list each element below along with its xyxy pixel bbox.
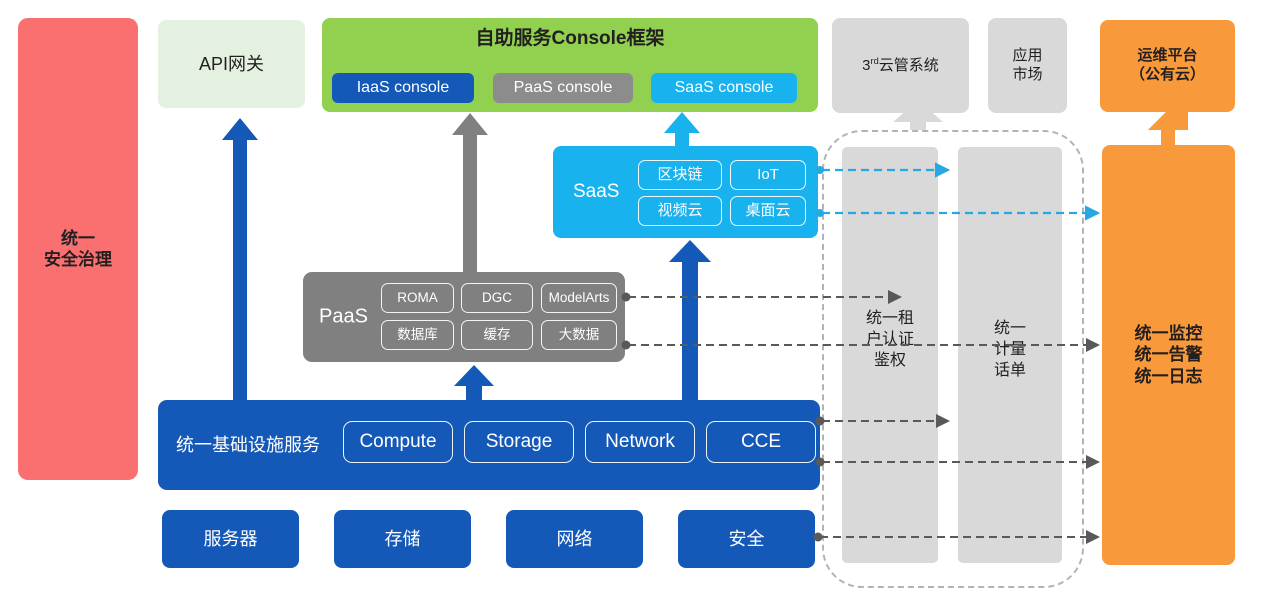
api-gateway-box: API网关 xyxy=(158,20,305,108)
hardware-label: 网络 xyxy=(557,528,593,551)
iaas-console-chip[interactable]: IaaS console xyxy=(332,73,474,103)
hardware-label: 安全 xyxy=(729,528,765,551)
ops-tall-line-2: 统一告警 xyxy=(1135,344,1203,365)
unified-infrastructure-service-band: 统一基础设施服务 Compute Storage Network CCE xyxy=(158,400,820,490)
arrow-iaas-to-saas xyxy=(669,240,711,400)
paas-console-label: PaaS console xyxy=(514,78,613,98)
ops-platform-line-2: （公有云） xyxy=(1130,66,1205,85)
console-frame-title: 自助服务Console框架 xyxy=(322,27,818,51)
paas-service-modelarts[interactable]: ModelArts xyxy=(541,283,617,313)
ops-tall-line-1: 统一监控 xyxy=(1135,323,1203,344)
third-party-cloud-mgmt-box: 3rd云管系统 xyxy=(832,18,969,113)
third-party-label: 3rd云管系统 xyxy=(862,56,939,76)
iaas-service-label: Compute xyxy=(359,430,436,454)
saas-service-label: 区块链 xyxy=(657,166,702,185)
iaas-service-network[interactable]: Network xyxy=(585,421,695,463)
hardware-box-storage: 存储 xyxy=(334,510,471,568)
saas-service-blockchain[interactable]: 区块链 xyxy=(638,160,722,190)
self-service-console-frame: 自助服务Console框架 IaaS console PaaS console … xyxy=(322,18,818,112)
iaas-console-label: IaaS console xyxy=(357,78,450,98)
paas-service-label: 数据库 xyxy=(397,327,438,344)
app-market-box: 应用 市场 xyxy=(988,18,1067,113)
arrow-ops-tall-to-ops-platform xyxy=(1148,110,1188,145)
saas-service-label: 桌面云 xyxy=(745,202,790,221)
metering-line-2: 计量 xyxy=(994,340,1026,361)
hardware-label: 服务器 xyxy=(204,528,258,551)
hardware-box-server: 服务器 xyxy=(162,510,299,568)
security-line-1: 统一 xyxy=(61,228,95,249)
saas-service-label: 视频云 xyxy=(657,202,702,221)
shared-service-metering-billing: 统一 计量 话单 xyxy=(958,147,1062,563)
paas-service-label: ROMA xyxy=(397,290,438,307)
saas-label: SaaS xyxy=(573,180,619,204)
paas-service-label: ModelArts xyxy=(549,290,610,307)
security-line-2: 安全治理 xyxy=(44,249,112,270)
unified-monitoring-alarm-log-panel: 统一监控 统一告警 统一日志 xyxy=(1102,145,1235,565)
tenant-auth-line-1: 统一租 xyxy=(866,309,914,330)
tenant-auth-line-2: 户认证 xyxy=(866,330,914,351)
paas-service-bigdata[interactable]: 大数据 xyxy=(541,320,617,350)
app-market-line-2: 市场 xyxy=(1012,66,1042,85)
iaas-service-cce[interactable]: CCE xyxy=(706,421,816,463)
iaas-band-label: 统一基础设施服务 xyxy=(176,434,320,457)
metering-line-3: 话单 xyxy=(994,361,1026,382)
ops-tall-line-3: 统一日志 xyxy=(1135,366,1203,387)
arrow-saas-to-console xyxy=(664,112,700,146)
iaas-service-compute[interactable]: Compute xyxy=(343,421,453,463)
iaas-service-label: CCE xyxy=(741,430,781,454)
api-gateway-label: API网关 xyxy=(199,53,264,76)
ops-platform-line-1: 运维平台 xyxy=(1137,47,1197,66)
metering-line-1: 统一 xyxy=(994,319,1026,340)
saas-service-label: IoT xyxy=(757,166,779,185)
paas-service-label: DGC xyxy=(482,290,512,307)
unified-security-governance-panel: 统一 安全治理 xyxy=(18,18,138,480)
tenant-auth-line-3: 鉴权 xyxy=(866,351,914,372)
shared-service-tenant-auth: 统一租 户认证 鉴权 xyxy=(842,147,938,563)
iaas-service-label: Storage xyxy=(486,430,553,454)
hardware-box-security: 安全 xyxy=(678,510,815,568)
saas-service-video-cloud[interactable]: 视频云 xyxy=(638,196,722,226)
saas-console-label: SaaS console xyxy=(675,78,774,98)
app-market-line-1: 应用 xyxy=(1012,47,1042,66)
paas-service-roma[interactable]: ROMA xyxy=(381,283,454,313)
paas-panel: PaaS ROMA DGC ModelArts 数据库 缓存 大数据 xyxy=(303,272,625,362)
paas-label: PaaS xyxy=(319,305,368,330)
paas-service-dgc[interactable]: DGC xyxy=(461,283,533,313)
paas-service-label: 缓存 xyxy=(484,327,511,344)
ops-platform-box: 运维平台 （公有云） xyxy=(1100,20,1235,112)
paas-service-cache[interactable]: 缓存 xyxy=(461,320,533,350)
paas-service-database[interactable]: 数据库 xyxy=(381,320,454,350)
iaas-service-label: Network xyxy=(605,430,675,454)
architecture-diagram: 统一 安全治理 API网关 自助服务Console框架 IaaS console… xyxy=(0,0,1265,605)
arrow-iaas-to-paas xyxy=(454,365,494,400)
hardware-box-network: 网络 xyxy=(506,510,643,568)
arrow-iaas-to-api-gateway xyxy=(222,118,258,400)
iaas-service-storage[interactable]: Storage xyxy=(464,421,574,463)
saas-panel: SaaS 区块链 IoT 视频云 桌面云 xyxy=(553,146,818,238)
arrow-paas-to-console xyxy=(452,113,488,272)
paas-console-chip[interactable]: PaaS console xyxy=(493,73,633,103)
paas-service-label: 大数据 xyxy=(559,327,600,344)
saas-service-desktop-cloud[interactable]: 桌面云 xyxy=(730,196,806,226)
saas-service-iot[interactable]: IoT xyxy=(730,160,806,190)
hardware-label: 存储 xyxy=(385,528,421,551)
saas-console-chip[interactable]: SaaS console xyxy=(651,73,797,103)
